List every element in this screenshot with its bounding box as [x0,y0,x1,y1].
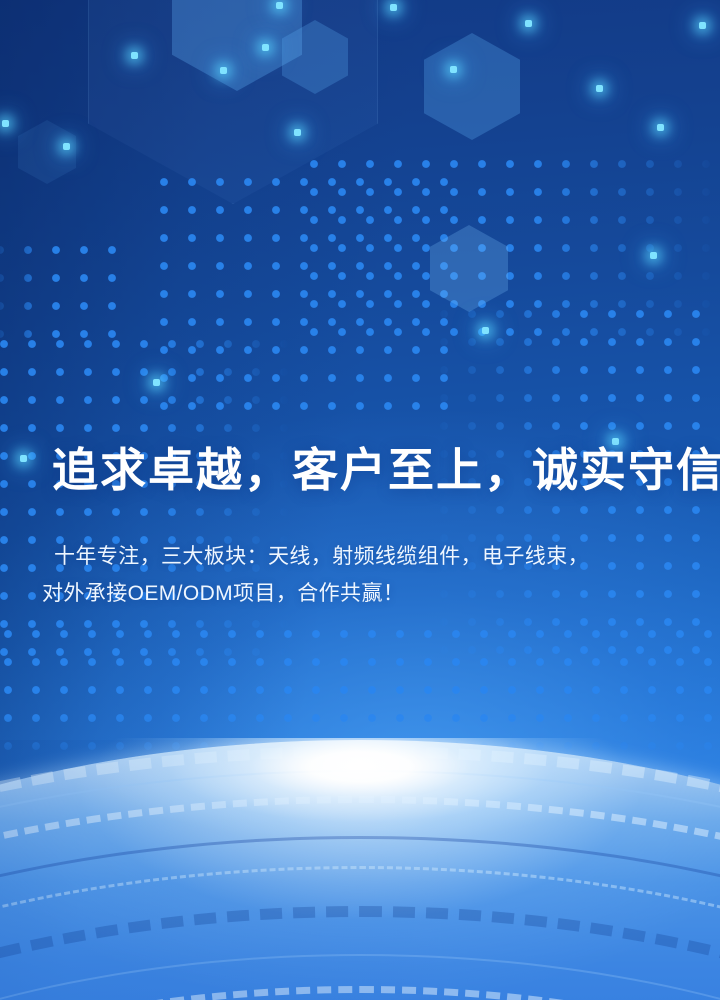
banner-headline: 追求卓越，客户至上，诚实守信 [0,440,720,500]
glow-spark-11 [657,124,664,131]
copy-block: 追求卓越，客户至上，诚实守信 十年专注，三大板块：天线，射频线缆组件，电子线束，… [0,440,720,612]
glow-spark-5 [131,52,138,59]
floor-plate [0,740,720,1000]
glow-spark-13 [650,252,657,259]
glow-spark-3 [525,20,532,27]
glow-spark-2 [390,4,397,11]
promo-banner: 追求卓越，客户至上，诚实守信 十年专注，三大板块：天线，射频线缆组件，电子线束，… [0,0,720,1000]
glow-spark-8 [2,120,9,127]
glow-spark-6 [220,67,227,74]
glow-spark-1 [262,44,269,51]
glow-spark-10 [596,85,603,92]
subcopy-line-2: 对外承接OEM/ODM项目，合作共赢！ [42,575,680,612]
subcopy-line-1: 十年专注，三大板块：天线，射频线缆组件，电子线束， [54,545,589,568]
glow-spark-7 [450,66,457,73]
glow-spark-15 [153,379,160,386]
banner-subcopy: 十年专注，三大板块：天线，射频线缆组件，电子线束， 对外承接OEM/ODM项目，… [0,500,720,612]
glow-spark-0 [276,2,283,9]
tech-hud-floor [0,738,720,1000]
glow-spark-9 [63,143,70,150]
glow-spark-14 [482,327,489,334]
glow-spark-12 [294,129,301,136]
glow-spark-4 [699,22,706,29]
